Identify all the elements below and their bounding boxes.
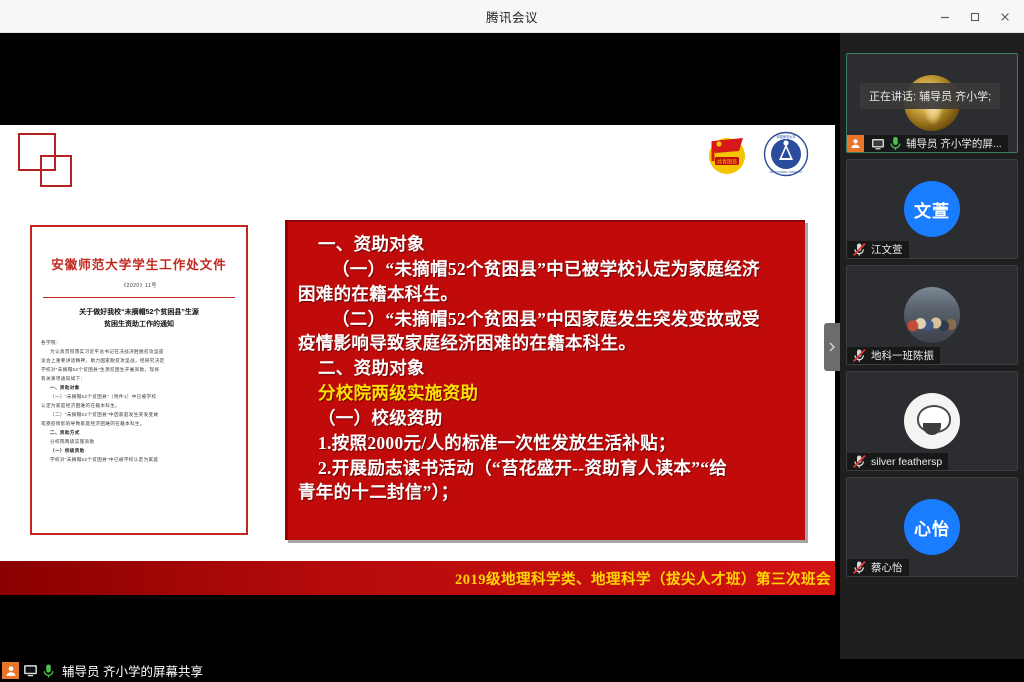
screen-share-icon[interactable] xyxy=(23,663,38,678)
slide-text-line: 一、资助对象 xyxy=(298,232,797,257)
participant-tile[interactable]: 心怡 蔡心怡 xyxy=(846,477,1018,577)
participant-name: 蔡心怡 xyxy=(871,560,903,575)
document-number: 《2020》11号 xyxy=(41,282,237,289)
microphone-muted-icon xyxy=(852,560,867,575)
document-heading-line2: 贫困生资助工作的通知 xyxy=(41,319,237,331)
slide-footer-banner-text: 2019级地理科学类、地理科学（拔尖人才班）第三次班会 xyxy=(455,568,831,589)
deco-square-small xyxy=(40,155,72,187)
host-person-icon xyxy=(847,135,864,152)
participant-namebar: 辅导员 齐小学的屏... xyxy=(847,135,1008,152)
slide-text-line: 困难的在籍本科生。 xyxy=(298,282,797,307)
document-body-line: 一、资助对象 xyxy=(41,384,237,393)
svg-text:ANHUI NORMAL UNIVERSITY: ANHUI NORMAL UNIVERSITY xyxy=(769,171,803,174)
maximize-icon xyxy=(969,11,981,23)
slide-text-line: 2.开展励志读书活动（“苔花盛开--资助育人读本”“给 xyxy=(298,456,797,481)
slide-text-line: 青年的十二封信”）； xyxy=(298,480,797,505)
svg-text:安徽师范大学: 安徽师范大学 xyxy=(776,134,795,139)
panel-collapse-handle[interactable] xyxy=(824,323,840,371)
avatar xyxy=(904,287,960,343)
participant-namebar: 地科一班陈振 xyxy=(847,347,940,364)
participant-video-panel: 正在讲话: 辅导员 齐小学; xyxy=(840,33,1024,659)
avatar xyxy=(904,393,960,449)
participant-namebar: 蔡心怡 xyxy=(847,559,909,576)
participant-name: 地科一班陈振 xyxy=(871,348,934,363)
slide-text-line: 疫情影响导致家庭经济困难的在籍本科生。 xyxy=(298,331,797,356)
document-title: 安徽师范大学学生工作处文件 xyxy=(41,254,237,273)
speaking-indicator-tooltip: 正在讲话: 辅导员 齐小学; xyxy=(860,83,1000,109)
document-divider xyxy=(43,297,235,298)
document-body: 各学院： 为认真贯彻落实习近平总书记在决战决胜脱贫攻坚座 谈会上重要讲话精神，助… xyxy=(41,339,237,464)
slide-text-line: （一）校级资助 xyxy=(298,406,797,431)
slide-text-line-highlight: 分校院两级实施资助 xyxy=(298,381,797,406)
participant-name: 江文萱 xyxy=(871,242,903,257)
participant-namebar: 江文萱 xyxy=(847,241,909,258)
document-body-line: 学校对“未摘帽52个贫困县”中已被学校认定为家庭 xyxy=(41,455,237,464)
participant-tile[interactable]: 文萱 江文萱 xyxy=(846,159,1018,259)
window-title: 腾讯会议 xyxy=(486,7,538,26)
corner-squares-decoration xyxy=(18,133,74,189)
slide-red-content-panel: 一、资助对象 （一）“未摘帽52个贫困县”中已被学校认定为家庭经济 困难的在籍本… xyxy=(285,220,805,540)
microphone-on-icon[interactable] xyxy=(42,663,55,679)
slide-text-line: 二、资助对象 xyxy=(298,356,797,381)
participant-tile[interactable]: silver feathersp xyxy=(846,371,1018,471)
screen-share-status-text: 辅导员 齐小学的屏幕共享 xyxy=(62,661,203,680)
document-body-line: 二、资助方式 xyxy=(41,428,237,437)
document-heading-line1: 关于做好我校“未摘帽52个贫困县”生源 xyxy=(41,307,237,319)
participant-name: silver feathersp xyxy=(871,456,942,468)
document-body-line: （一）校级资助 xyxy=(41,446,237,455)
microphone-muted-icon xyxy=(852,348,867,363)
presentation-slide: 共青团员 安徽师范大学 ANHUI NORMAL UNIVERSITY 安徽师范… xyxy=(0,125,835,595)
window-titlebar: 腾讯会议 xyxy=(0,0,1024,33)
minimize-icon xyxy=(939,11,951,23)
microphone-on-icon xyxy=(889,136,902,151)
svg-text:共青团员: 共青团员 xyxy=(717,159,737,166)
official-document-image: 安徽师范大学学生工作处文件 《2020》11号 关于做好我校“未摘帽52个贫困县… xyxy=(30,225,248,535)
slide-logos: 共青团员 安徽师范大学 ANHUI NORMAL UNIVERSITY xyxy=(703,131,809,177)
slide-text-line: （二）“未摘帽52个贫困县”中因家庭发生突发变故或受 xyxy=(298,307,797,332)
tencent-meeting-window: 腾讯会议 xyxy=(0,0,1024,682)
avatar: 心怡 xyxy=(904,499,960,555)
microphone-muted-icon xyxy=(852,454,867,469)
slide-text-line: （一）“未摘帽52个贫困县”中已被学校认定为家庭经济 xyxy=(298,257,797,282)
participant-tile[interactable]: 地科一班陈振 xyxy=(846,265,1018,365)
maximize-button[interactable] xyxy=(960,4,990,30)
window-controls xyxy=(930,0,1020,33)
slide-text-line: 1.按照2000元/人的标准一次性发放生活补贴； xyxy=(298,431,797,456)
document-body-line: （二）“未摘帽52个贫困县”中因家庭发生突发变故 xyxy=(41,411,237,420)
document-body-line: 有关事项通知如下： xyxy=(41,375,237,384)
participant-namebar: silver feathersp xyxy=(847,453,948,470)
communist-youth-league-emblem-icon: 共青团员 xyxy=(703,131,751,177)
minimize-button[interactable] xyxy=(930,4,960,30)
document-body-line: （一）“未摘帽52个贫困县”（附件1）中已被学校 xyxy=(41,393,237,402)
anhui-normal-university-seal-icon: 安徽师范大学 ANHUI NORMAL UNIVERSITY xyxy=(763,131,809,177)
close-icon xyxy=(999,11,1011,23)
slide-footer-banner: 2019级地理科学类、地理科学（拔尖人才班）第三次班会 xyxy=(0,561,835,595)
host-person-icon xyxy=(2,662,19,679)
shared-screen-stage[interactable]: 共青团员 安徽师范大学 ANHUI NORMAL UNIVERSITY 安徽师范… xyxy=(0,33,840,659)
close-button[interactable] xyxy=(990,4,1020,30)
screen-share-icon xyxy=(871,137,885,151)
document-body-line: 认定为家庭经济困难的在籍本科生。 xyxy=(41,402,237,411)
screen-share-statusbar: 辅导员 齐小学的屏幕共享 xyxy=(0,659,1024,682)
document-body-line: 分校院两级实施资助 xyxy=(41,437,237,446)
avatar: 文萱 xyxy=(904,181,960,237)
document-body-line: 或受疫情影响导致家庭经济困难的在籍本科生。 xyxy=(41,420,237,429)
microphone-muted-icon xyxy=(852,242,867,257)
participant-name: 辅导员 齐小学的屏... xyxy=(906,136,1002,151)
chevron-right-icon xyxy=(828,341,836,353)
